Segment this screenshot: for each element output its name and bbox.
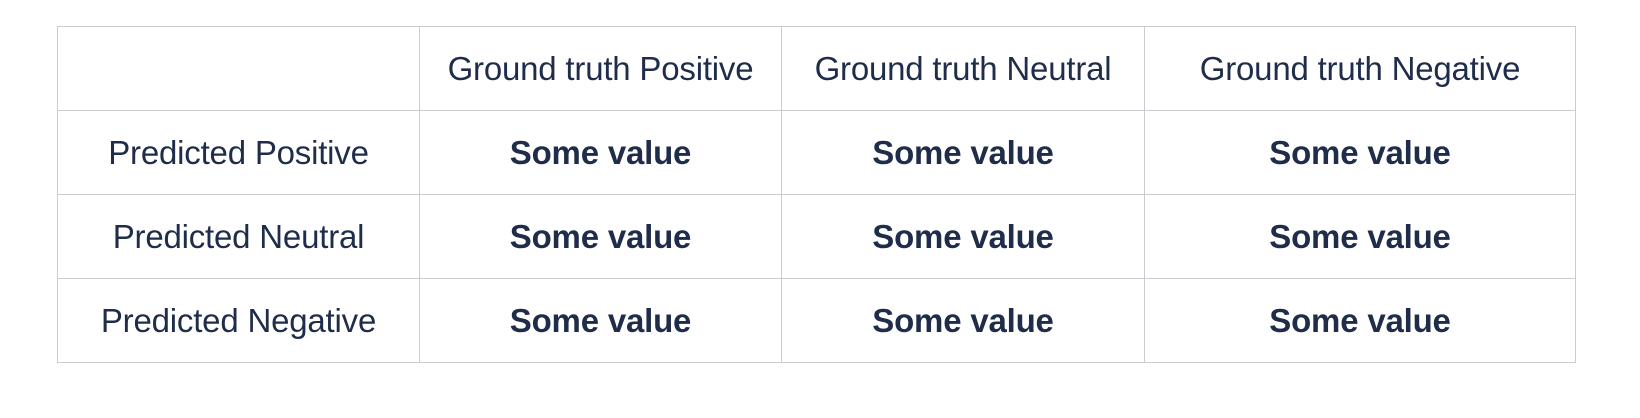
confusion-matrix-table: Ground truth Positive Ground truth Neutr… (57, 26, 1576, 363)
cell-predicted-positive-ground-truth-positive: Some value (420, 111, 782, 195)
cell-predicted-neutral-ground-truth-negative: Some value (1145, 195, 1576, 279)
table-row: Predicted Negative Some value Some value… (58, 279, 1576, 363)
cell-predicted-neutral-ground-truth-positive: Some value (420, 195, 782, 279)
cell-predicted-negative-ground-truth-positive: Some value (420, 279, 782, 363)
row-header-predicted-neutral: Predicted Neutral (58, 195, 420, 279)
column-header-ground-truth-positive: Ground truth Positive (420, 27, 782, 111)
table-row: Predicted Positive Some value Some value… (58, 111, 1576, 195)
table-header-row: Ground truth Positive Ground truth Neutr… (58, 27, 1576, 111)
cell-predicted-positive-ground-truth-negative: Some value (1145, 111, 1576, 195)
confusion-matrix-container: Ground truth Positive Ground truth Neutr… (57, 26, 1575, 362)
cell-predicted-positive-ground-truth-neutral: Some value (782, 111, 1145, 195)
cell-predicted-negative-ground-truth-neutral: Some value (782, 279, 1145, 363)
column-header-ground-truth-neutral: Ground truth Neutral (782, 27, 1145, 111)
cell-predicted-negative-ground-truth-negative: Some value (1145, 279, 1576, 363)
table-row: Predicted Neutral Some value Some value … (58, 195, 1576, 279)
matrix-corner-cell (58, 27, 420, 111)
row-header-predicted-positive: Predicted Positive (58, 111, 420, 195)
row-header-predicted-negative: Predicted Negative (58, 279, 420, 363)
cell-predicted-neutral-ground-truth-neutral: Some value (782, 195, 1145, 279)
column-header-ground-truth-negative: Ground truth Negative (1145, 27, 1576, 111)
